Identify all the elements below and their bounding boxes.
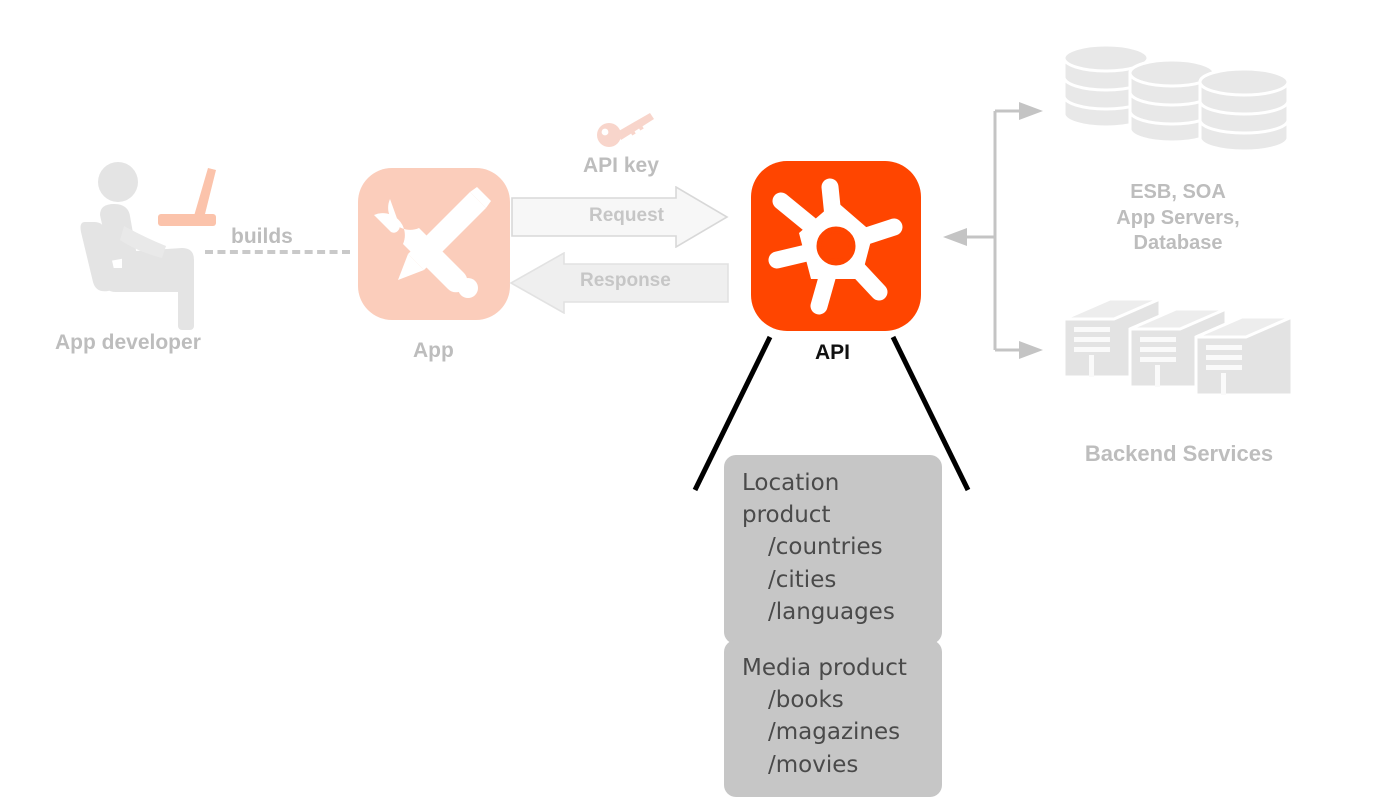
wrench-pencil-icon (358, 168, 510, 320)
api-star-icon (751, 161, 921, 331)
product-endpoint: /cities (742, 564, 924, 596)
product-endpoint: /books (742, 684, 924, 716)
product-endpoint: /languages (742, 596, 924, 628)
diagram-canvas: App developer builds App (0, 0, 1382, 810)
app-tile[interactable] (358, 168, 510, 320)
product-title: Media product (742, 652, 924, 684)
product-endpoint: /magazines (742, 716, 924, 748)
media-product-box[interactable]: Media product /books /magazines /movies (724, 640, 942, 797)
database-label: ESB, SOA App Servers, Database (1058, 180, 1298, 257)
response-label: Response (580, 270, 671, 292)
product-endpoint: /movies (742, 749, 924, 781)
key-icon (596, 110, 658, 150)
builds-label: builds (231, 224, 293, 251)
product-endpoint: /countries (742, 531, 924, 563)
app-developer-label: App developer (55, 330, 201, 357)
backend-services-label: Backend Services (1040, 440, 1318, 468)
api-key-label: API key (583, 153, 659, 180)
server-racks-icon (1058, 295, 1298, 405)
database-stack-icon (1058, 40, 1298, 150)
api-tile[interactable] (751, 161, 921, 331)
app-label: App (413, 338, 454, 365)
request-label: Request (589, 205, 664, 227)
app-developer-icon (80, 160, 240, 330)
product-title: Location product (742, 467, 924, 531)
api-backend-connectors (925, 95, 1045, 365)
location-product-box[interactable]: Location product /countries /cities /lan… (724, 455, 942, 644)
